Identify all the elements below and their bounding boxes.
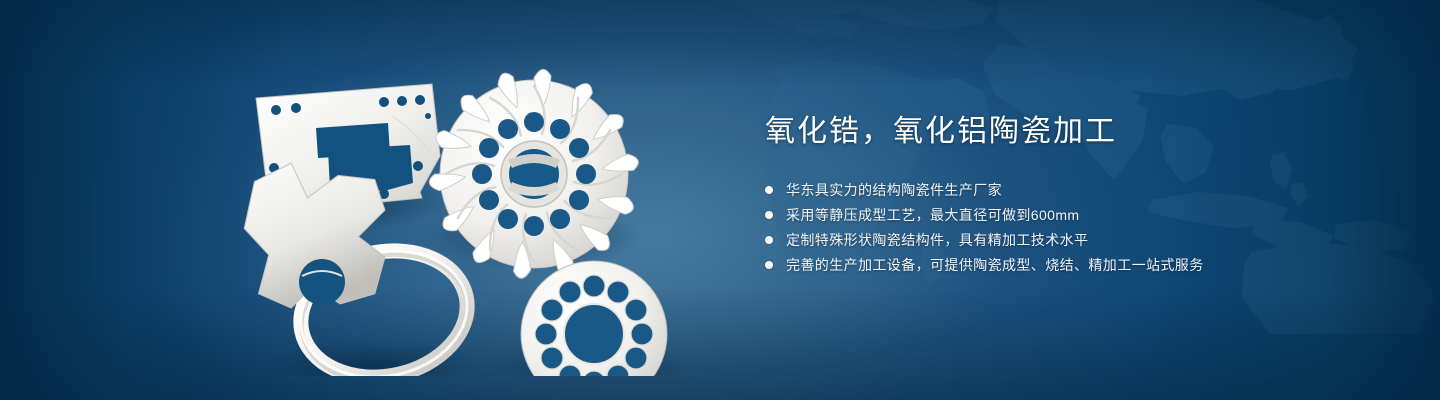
- bullet-dot-icon: [765, 236, 773, 244]
- list-item: 定制特殊形状陶瓷结构件，具有精加工技术水平: [765, 228, 1325, 252]
- list-item-label: 采用等静压成型工艺，最大直径可做到600mm: [786, 205, 1079, 225]
- ceramic-parts-photo: [232, 46, 702, 376]
- banner-copy: 氧化锆，氧化铝陶瓷加工 华东具实力的结构陶瓷件生产厂家 采用等静压成型工艺，最大…: [765, 112, 1325, 278]
- list-item-label: 完善的生产加工设备，可提供陶瓷成型、烧结、精加工一站式服务: [786, 255, 1204, 275]
- ceramic-valve-plate: [521, 261, 667, 376]
- list-item-label: 华东具实力的结构陶瓷件生产厂家: [786, 180, 1002, 200]
- list-item: 采用等静压成型工艺，最大直径可做到600mm: [765, 203, 1325, 227]
- list-item-label: 定制特殊形状陶瓷结构件，具有精加工技术水平: [786, 230, 1088, 250]
- page-title: 氧化锆，氧化铝陶瓷加工: [765, 112, 1325, 152]
- bullet-dot-icon: [765, 211, 773, 219]
- feature-list: 华东具实力的结构陶瓷件生产厂家 采用等静压成型工艺，最大直径可做到600mm 定…: [765, 178, 1325, 277]
- bullet-dot-icon: [765, 186, 773, 194]
- list-item: 完善的生产加工设备，可提供陶瓷成型、烧结、精加工一站式服务: [765, 253, 1325, 277]
- bullet-dot-icon: [765, 261, 773, 269]
- hero-banner: 氧化锆，氧化铝陶瓷加工 华东具实力的结构陶瓷件生产厂家 采用等静压成型工艺，最大…: [0, 0, 1440, 400]
- list-item: 华东具实力的结构陶瓷件生产厂家: [765, 178, 1325, 202]
